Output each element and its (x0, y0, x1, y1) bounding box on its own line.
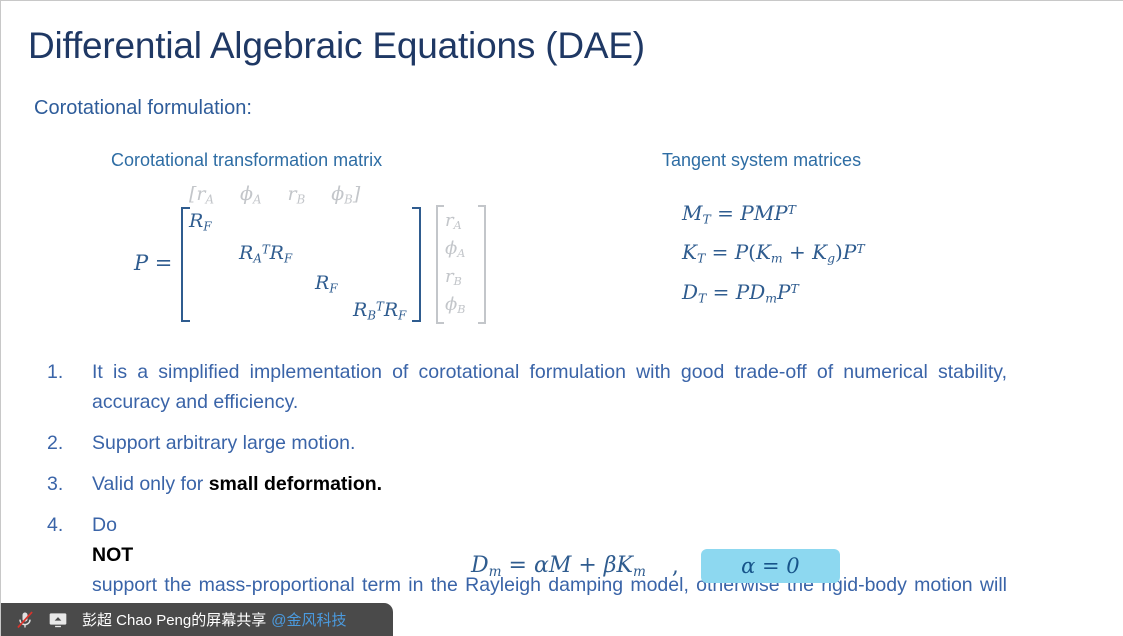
corotational-matrix-figure: [rAϕArBϕB] P = RF RATRF RF RBTRF rA ϕA r… (134, 183, 534, 333)
vector-entry-phiA: ϕA (445, 235, 484, 263)
screen-share-org: @金风科技 (271, 609, 346, 630)
equation-damping-tangent: DT = PDmPT (682, 280, 865, 305)
damping-equation-row: Dm = αM + βKm , α = 0 (471, 549, 840, 583)
list-item: 2. Support arbitrary large motion. (42, 428, 1007, 458)
equation-mass-tangent: MT = PMPT (682, 201, 865, 226)
list-item-emphasis: NOT (92, 544, 133, 566)
vector-entry-rB: rB (445, 263, 484, 291)
matrix-column-vector: rA ϕA rB ϕB (436, 207, 486, 324)
list-item-text: Support arbitrary large motion. (92, 432, 355, 454)
list-item-number: 1. (47, 357, 63, 387)
caption-corotational-matrix: Corotational transformation matrix (111, 150, 382, 171)
equation-stiffness-tangent: KT = P(Km + Kg)PT (682, 240, 865, 265)
matrix-column-headers: [rAϕArBϕB] (189, 183, 360, 206)
equation-rayleigh-damping: Dm = αM + βKm (471, 553, 646, 580)
list-item-text: Valid only for (92, 473, 209, 495)
matrix-lhs-label: P = (134, 251, 172, 275)
screen-share-icon[interactable] (47, 609, 69, 631)
vector-entry-rA: rA (445, 207, 484, 235)
list-item-number: 4. (47, 510, 63, 540)
list-item-number: 3. (47, 469, 63, 499)
matrix-entry-4: RBTRF (353, 299, 406, 322)
microphone-muted-icon[interactable] (14, 609, 36, 631)
numbered-list: 1. It is a simplified implementation of … (42, 357, 1007, 636)
alpha-zero-highlight: α = 0 (701, 549, 840, 583)
caption-tangent-matrices: Tangent system matrices (662, 150, 861, 171)
vector-entry-phiB: ϕB (445, 291, 484, 319)
list-item: 3. Valid only for small deformation. (42, 469, 1007, 499)
list-item: 1. It is a simplified implementation of … (42, 357, 1007, 417)
list-item-text: Do (92, 510, 1007, 540)
slide-subtitle: Corotational formulation: (34, 97, 252, 120)
list-item-emphasis: small deformation. (209, 473, 382, 495)
list-item-text: It is a simplified implementation of cor… (92, 361, 1007, 413)
matrix-entry-3: RF (315, 272, 337, 295)
page-title: Differential Algebraic Equations (DAE) (28, 25, 645, 67)
screen-share-label: 彭超 Chao Peng的屏幕共享 (82, 609, 266, 630)
list-item-number: 2. (47, 428, 63, 458)
presentation-slide: Differential Algebraic Equations (DAE) C… (0, 0, 1123, 636)
matrix-bracket-body: RF RATRF RF RBTRF (181, 209, 421, 322)
matrix-entry-2: RATRF (239, 242, 292, 265)
equation-comma: , (672, 554, 679, 579)
screen-share-taskbar[interactable]: 彭超 Chao Peng的屏幕共享 @金风科技 (1, 603, 393, 636)
matrix-entry-1: RF (189, 210, 211, 233)
tangent-equations-group: MT = PMPT KT = P(Km + Kg)PT DT = PDmPT (682, 201, 865, 319)
